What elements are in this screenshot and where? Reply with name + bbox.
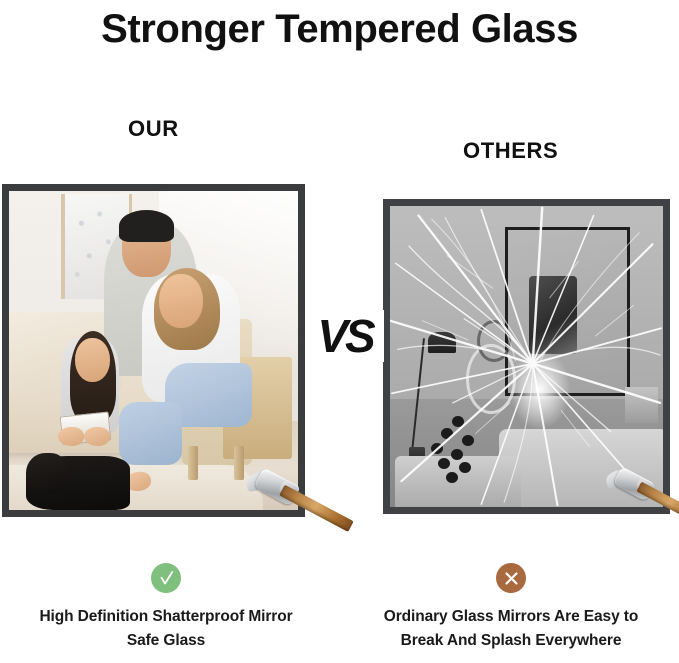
result-caption-others: Ordinary Glass Mirrors Are Easy to Break… bbox=[341, 605, 679, 653]
result-caption-our: High Definition Shatterproof Mirror Safe… bbox=[0, 605, 336, 653]
dog-head bbox=[26, 453, 66, 494]
result-our: High Definition Shatterproof Mirror Safe… bbox=[0, 563, 336, 653]
vs-badge: VS bbox=[306, 310, 384, 362]
check-circle-icon bbox=[151, 563, 181, 593]
column-label-others: OTHERS bbox=[463, 138, 558, 164]
result-caption-others-line2: Break And Splash Everywhere bbox=[341, 629, 679, 653]
cross-circle-icon bbox=[496, 563, 526, 593]
girl-head bbox=[75, 338, 110, 383]
result-caption-our-line2: Safe Glass bbox=[0, 629, 336, 653]
result-others: Ordinary Glass Mirrors Are Easy to Break… bbox=[341, 563, 679, 653]
bare-foot bbox=[84, 427, 110, 446]
page-title: Stronger Tempered Glass bbox=[0, 0, 679, 58]
table-leg bbox=[234, 446, 244, 480]
hammer-left bbox=[246, 462, 356, 550]
result-caption-our-line1: High Definition Shatterproof Mirror bbox=[0, 605, 336, 629]
man-jeans bbox=[119, 402, 183, 466]
table-leg bbox=[188, 446, 198, 480]
man-hair bbox=[119, 210, 174, 242]
column-label-our: OUR bbox=[128, 116, 179, 142]
hammer-right bbox=[606, 462, 679, 544]
woman-head bbox=[159, 274, 202, 328]
comparison-infographic: Stronger Tempered Glass OUR OTHERS bbox=[0, 0, 679, 663]
bare-foot bbox=[58, 427, 84, 446]
result-caption-others-line1: Ordinary Glass Mirrors Are Easy to bbox=[341, 605, 679, 629]
